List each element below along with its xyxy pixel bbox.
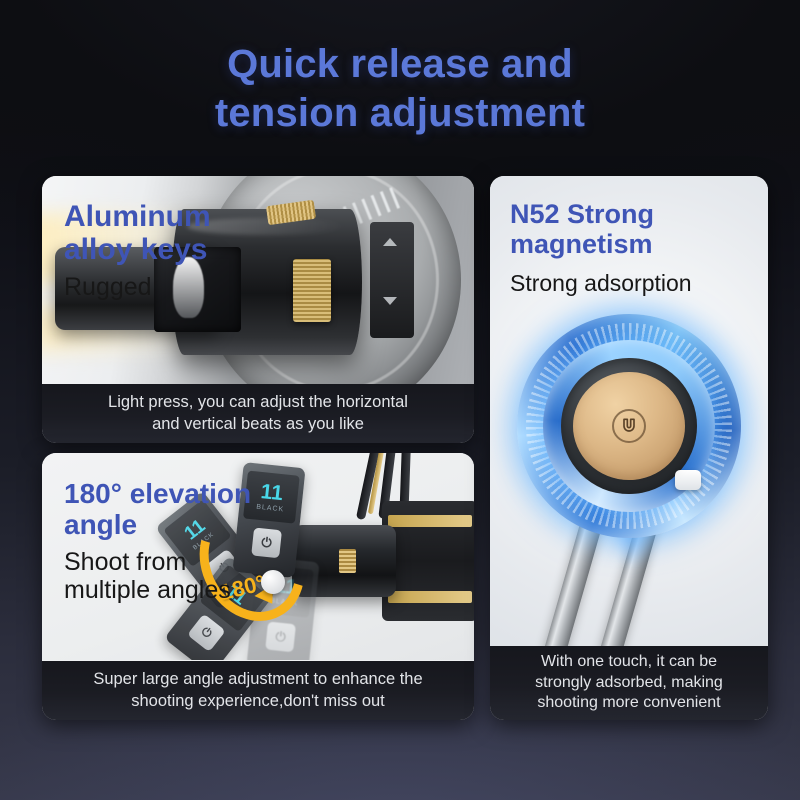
- card-aluminum-caption-line1: Light press, you can adjust the horizont…: [108, 392, 408, 413]
- flashlight-lens: [154, 247, 240, 332]
- power-icon: ⏻: [275, 628, 287, 645]
- card-elevation-caption-line1: Super large angle adjustment to enhance …: [93, 669, 422, 690]
- camera-power-button: ⏻: [187, 614, 226, 652]
- magnet-photo: [490, 176, 768, 646]
- card-aluminum-alloy-keys[interactable]: Aluminum alloy keys Rugged Light press, …: [42, 176, 474, 443]
- infographic-stage: Quick release and tension adjustment Alu…: [0, 0, 800, 800]
- flashlight-photo: [42, 176, 474, 384]
- card-elevation-caption: Super large angle adjustment to enhance …: [42, 661, 474, 720]
- card-elevation-angle[interactable]: 11 BLACK ⏻ 11 BLACK ⏻ 11 BLACK ⏻: [42, 453, 474, 720]
- triangle-down-icon: [383, 297, 397, 305]
- card-magnetism-caption: With one touch, it can be strongly adsor…: [490, 646, 768, 720]
- flashlight-gold-key: [293, 259, 332, 321]
- card-magnetism-caption-line3: shooting more convenient: [537, 693, 720, 713]
- triangle-up-icon: [383, 238, 397, 246]
- page-title-line2: tension adjustment: [0, 89, 800, 138]
- power-icon: ⏻: [198, 624, 215, 642]
- pivot-joint: [261, 570, 285, 594]
- card-magnetism-caption-line1: With one touch, it can be: [541, 652, 717, 672]
- camera-mount-photo: 11 BLACK ⏻ 11 BLACK ⏻ 11 BLACK ⏻: [42, 453, 474, 660]
- camera-power-button: ⏻: [265, 621, 296, 652]
- magnet-core: [573, 372, 685, 480]
- card-magnetism[interactable]: N52 Strong magnetism Strong adsorption W…: [490, 176, 768, 720]
- card-aluminum-caption: Light press, you can adjust the horizont…: [42, 384, 474, 443]
- card-aluminum-caption-line2: and vertical beats as you like: [152, 414, 364, 435]
- magnet-icon: [612, 409, 646, 443]
- card-elevation-caption-line2: shooting experience,don't miss out: [131, 691, 385, 712]
- card-magnetism-caption-line2: strongly adsorbed, making: [535, 673, 723, 693]
- page-title-line1: Quick release and: [0, 40, 800, 89]
- magnet-assembly: [517, 314, 741, 538]
- camera-model-label: 11: [260, 481, 284, 504]
- page-title: Quick release and tension adjustment: [0, 40, 800, 138]
- magnet-notch: [675, 470, 701, 490]
